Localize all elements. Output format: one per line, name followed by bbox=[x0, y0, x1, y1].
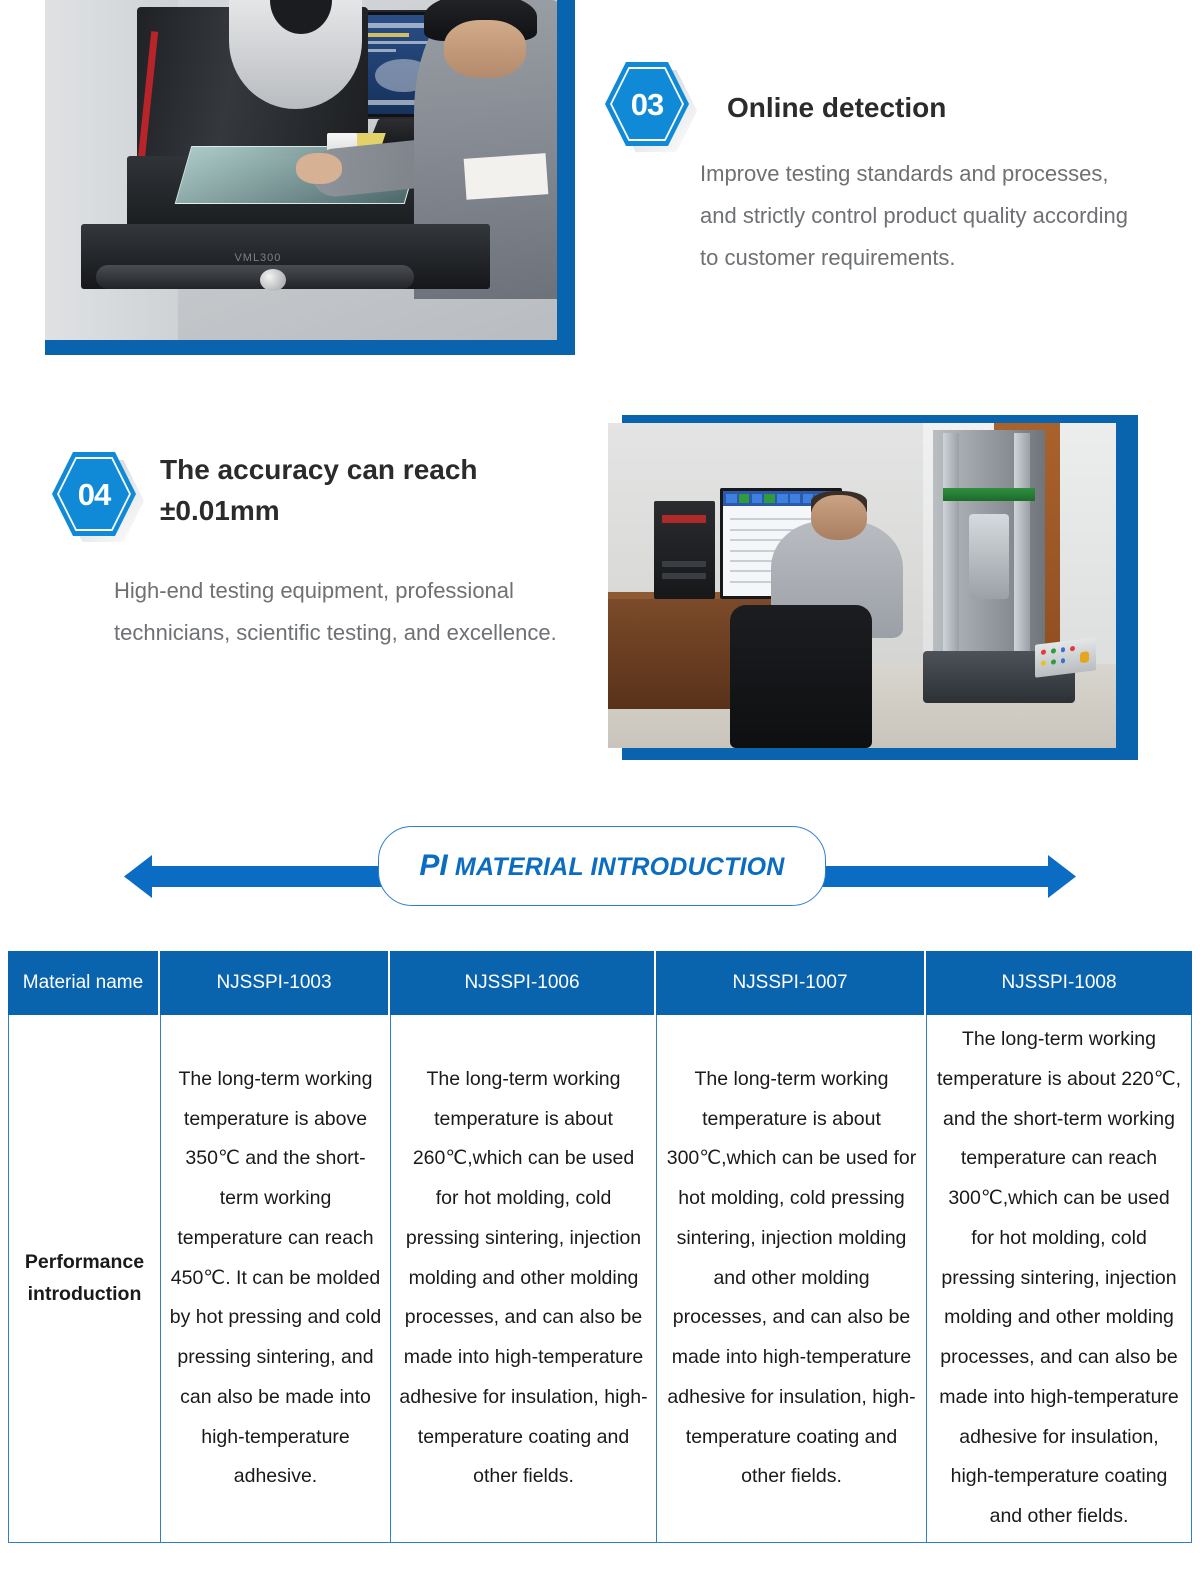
badge-number: 03 bbox=[631, 89, 663, 120]
banner-title-lead: PI bbox=[419, 849, 447, 882]
table-header-njsspi-1003: NJSSPI-1003 bbox=[160, 951, 390, 1015]
page-root: VML300 03 Online detection Improve testi… bbox=[0, 0, 1200, 1588]
table-cell-njsspi-1006: The long-term working temperature is abo… bbox=[391, 1015, 657, 1542]
table-header-njsspi-1006: NJSSPI-1006 bbox=[390, 951, 656, 1015]
photo-tensile-lab-frame bbox=[608, 415, 1138, 760]
photo-optical-measuring-machine: VML300 bbox=[45, 0, 557, 340]
feature-title-accuracy: The accuracy can reach ±0.01mm bbox=[160, 450, 560, 531]
banner-title: PI MATERIAL INTRODUCTION bbox=[419, 849, 784, 883]
arrow-line-left bbox=[150, 866, 400, 887]
feature-body-accuracy: High-end testing equipment, professional… bbox=[114, 570, 594, 654]
arrow-line-right bbox=[800, 866, 1052, 887]
table-row: Performance introduction The long-term w… bbox=[8, 1015, 1192, 1543]
table-cell-njsspi-1003: The long-term working temperature is abo… bbox=[161, 1015, 391, 1542]
arrow-head-right-icon bbox=[1048, 855, 1076, 898]
table-header-row: Material name NJSSPI-1003 NJSSPI-1006 NJ… bbox=[8, 951, 1192, 1015]
banner-title-box: PI MATERIAL INTRODUCTION bbox=[378, 826, 826, 906]
feature-body-online-detection: Improve testing standards and processes,… bbox=[700, 153, 1130, 280]
table-cell-njsspi-1008: The long-term working temperature is abo… bbox=[927, 1015, 1191, 1542]
photo-tensile-testing-lab bbox=[608, 423, 1116, 748]
photo2-computer-tower bbox=[654, 501, 715, 599]
table-header-material-name: Material name bbox=[8, 951, 160, 1015]
table-header-njsspi-1008: NJSSPI-1008 bbox=[926, 951, 1192, 1015]
badge-04: 04 bbox=[52, 452, 144, 544]
badge-03: 03 bbox=[605, 62, 697, 154]
table-row-label: Performance introduction bbox=[9, 1015, 161, 1542]
table-cell-njsspi-1007: The long-term working temperature is abo… bbox=[657, 1015, 927, 1542]
badge-number: 04 bbox=[78, 479, 110, 510]
photo1-machine-label: VML300 bbox=[234, 252, 281, 264]
pi-material-table: Material name NJSSPI-1003 NJSSPI-1006 NJ… bbox=[8, 951, 1192, 1543]
feature-title-online-detection: Online detection bbox=[727, 88, 1147, 129]
photo2-office-chair bbox=[730, 605, 872, 748]
arrow-head-left-icon bbox=[124, 855, 152, 898]
banner-title-rest: MATERIAL INTRODUCTION bbox=[448, 853, 785, 881]
photo-online-detection-frame: VML300 bbox=[45, 0, 575, 355]
table-header-njsspi-1007: NJSSPI-1007 bbox=[656, 951, 926, 1015]
